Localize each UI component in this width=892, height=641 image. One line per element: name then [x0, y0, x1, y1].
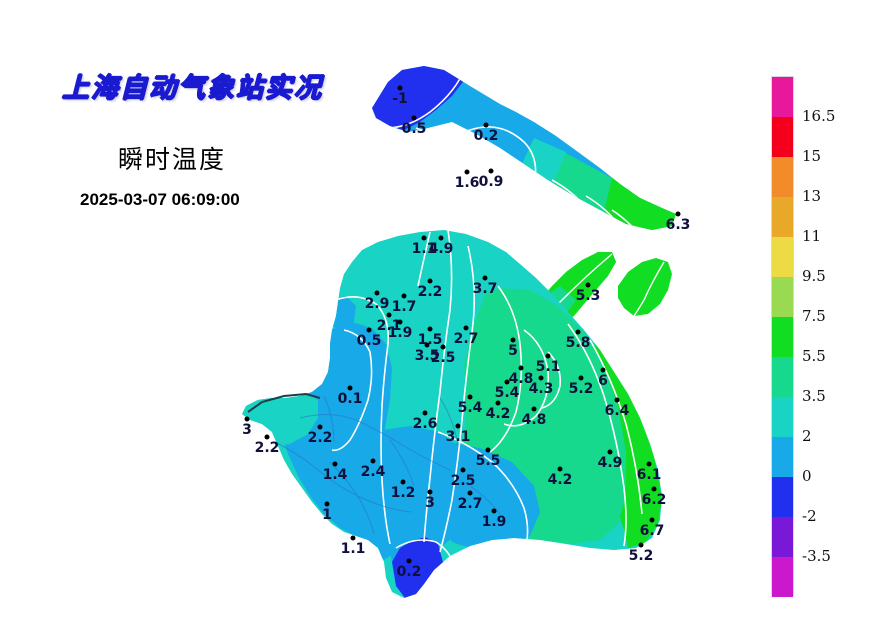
- hengsha-island-region: [612, 252, 682, 322]
- colorbar-tick-label: 9.5: [802, 267, 826, 285]
- station-value-label: 3.7: [473, 282, 498, 296]
- station-value-label: 4.8: [522, 413, 547, 427]
- station-dot-icon: [586, 283, 591, 288]
- station-dot-icon: [676, 212, 681, 217]
- station-value-label: 1: [322, 508, 332, 522]
- station-value-label: 6.2: [642, 493, 667, 507]
- station-value-label: 0.5: [357, 334, 382, 348]
- station-dot-icon: [496, 401, 501, 406]
- colorbar-band-7: [772, 357, 793, 397]
- station-value-label: 3: [425, 496, 435, 510]
- page-title: 上海自动气象站实况: [62, 66, 323, 105]
- station-dot-icon: [558, 467, 563, 472]
- station-dot-icon: [639, 543, 644, 548]
- station-dot-icon: [441, 345, 446, 350]
- station-dot-icon: [371, 459, 376, 464]
- colorbar-band-4: [772, 237, 793, 277]
- station-value-label: 2.6: [413, 417, 438, 431]
- station-value-label: 1.1: [341, 542, 366, 556]
- station-dot-icon: [439, 236, 444, 241]
- station-dot-icon: [468, 395, 473, 400]
- station-value-label: 0.1: [338, 392, 363, 406]
- station-dot-icon: [351, 536, 356, 541]
- station-value-label: 3: [242, 423, 252, 437]
- colorbar-band-6: [772, 317, 793, 357]
- timestamp-label: 2025-03-07 06:09:00: [80, 190, 240, 210]
- station-value-label: 1.7: [392, 300, 417, 314]
- colorbar-tick-label: 16.5: [802, 107, 835, 125]
- station-dot-icon: [483, 276, 488, 281]
- station-value-label: 1.5: [418, 333, 443, 347]
- station-dot-icon: [423, 411, 428, 416]
- colorbar-tick-label: 13: [802, 187, 821, 205]
- station-dot-icon: [608, 450, 613, 455]
- station-value-label: -1: [392, 92, 408, 106]
- station-dot-icon: [468, 491, 473, 496]
- station-dot-icon: [367, 328, 372, 333]
- chongming-island-region: [360, 60, 700, 250]
- station-dot-icon: [318, 425, 323, 430]
- station-value-label: 6.4: [605, 404, 630, 418]
- station-value-label: 0.9: [479, 175, 504, 189]
- colorbar-tick-label: 2: [802, 427, 812, 445]
- station-dot-icon: [412, 116, 417, 121]
- colorbar-band-0: [772, 77, 793, 117]
- station-dot-icon: [398, 86, 403, 91]
- station-dot-icon: [511, 338, 516, 343]
- station-value-label: 5.1: [536, 360, 561, 374]
- station-value-label: 5.3: [576, 289, 601, 303]
- station-dot-icon: [539, 376, 544, 381]
- station-dot-icon: [465, 170, 470, 175]
- station-dot-icon: [333, 462, 338, 467]
- station-dot-icon: [615, 398, 620, 403]
- station-dot-icon: [650, 518, 655, 523]
- station-dot-icon: [348, 386, 353, 391]
- station-dot-icon: [461, 468, 466, 473]
- station-value-label: 2.5: [451, 474, 476, 488]
- station-value-label: 2.2: [418, 285, 443, 299]
- station-dot-icon: [456, 424, 461, 429]
- station-value-label: 2.2: [308, 431, 333, 445]
- station-dot-icon: [464, 326, 469, 331]
- station-value-label: 6.7: [640, 524, 665, 538]
- station-value-label: 1.4: [323, 468, 348, 482]
- station-dot-icon: [652, 487, 657, 492]
- station-value-label: 1.2: [391, 486, 416, 500]
- station-dot-icon: [402, 294, 407, 299]
- colorbar-band-1: [772, 117, 793, 157]
- colorbar-band-10: [772, 477, 793, 517]
- station-dot-icon: [647, 462, 652, 467]
- station-value-label: 5.5: [476, 454, 501, 468]
- station-dot-icon: [492, 509, 497, 514]
- station-value-label: 4.3: [529, 382, 554, 396]
- station-dot-icon: [532, 407, 537, 412]
- station-value-label: 2.5: [431, 351, 456, 365]
- station-value-label: 2.9: [365, 297, 390, 311]
- station-dot-icon: [265, 435, 270, 440]
- station-value-label: 1.6: [455, 176, 480, 190]
- station-dot-icon: [489, 169, 494, 174]
- station-value-label: 2.7: [454, 332, 479, 346]
- station-dot-icon: [519, 366, 524, 371]
- station-dot-icon: [245, 417, 250, 422]
- station-dot-icon: [407, 559, 412, 564]
- station-dot-icon: [422, 236, 427, 241]
- colorbar-band-11: [772, 517, 793, 557]
- station-dot-icon: [325, 502, 330, 507]
- shanghai-mainland-region: [230, 225, 680, 615]
- station-value-label: 5.4: [495, 386, 520, 400]
- colorbar-band-3: [772, 197, 793, 237]
- station-dot-icon: [375, 291, 380, 296]
- colorbar-tick-label: 11: [802, 227, 821, 245]
- station-value-label: 6.1: [637, 468, 662, 482]
- station-value-label: 1.9: [388, 326, 413, 340]
- colorbar-tick-label: 5.5: [802, 347, 826, 365]
- colorbar-gradient: [771, 76, 794, 596]
- station-dot-icon: [576, 330, 581, 335]
- station-value-label: 4.2: [548, 473, 573, 487]
- station-dot-icon: [505, 380, 510, 385]
- station-dot-icon: [425, 343, 430, 348]
- subtitle-variable: 瞬时温度: [118, 140, 226, 176]
- colorbar-band-9: [772, 437, 793, 477]
- colorbar-band-5: [772, 277, 793, 317]
- colorbar-tick-label: 15: [802, 147, 821, 165]
- colorbar: 16.51513119.57.55.53.520-2-3.5: [771, 76, 891, 598]
- station-dot-icon: [398, 320, 403, 325]
- station-value-label: 4.2: [486, 407, 511, 421]
- station-value-label: 0.2: [397, 565, 422, 579]
- station-dot-icon: [428, 490, 433, 495]
- station-value-label: 6.3: [666, 218, 691, 232]
- station-value-label: 6: [598, 374, 608, 388]
- colorbar-tick-label: 7.5: [802, 307, 826, 325]
- station-value-label: 5.2: [629, 549, 654, 563]
- station-value-label: 5.8: [566, 336, 591, 350]
- station-value-label: 2.2: [255, 441, 280, 455]
- station-dot-icon: [401, 480, 406, 485]
- station-value-label: 1.9: [482, 515, 507, 529]
- colorbar-band-8: [772, 397, 793, 437]
- station-value-label: 4.9: [598, 456, 623, 470]
- station-value-label: 0.5: [402, 122, 427, 136]
- station-value-label: 4.9: [429, 242, 454, 256]
- colorbar-tick-label: 0: [802, 467, 812, 485]
- station-dot-icon: [486, 448, 491, 453]
- station-value-label: 5: [508, 344, 518, 358]
- station-dot-icon: [546, 354, 551, 359]
- station-dot-icon: [428, 279, 433, 284]
- station-value-label: 5.4: [458, 401, 483, 415]
- colorbar-tick-label: -3.5: [802, 547, 831, 565]
- colorbar-band-2: [772, 157, 793, 197]
- station-value-label: 0.2: [474, 129, 499, 143]
- station-dot-icon: [579, 376, 584, 381]
- station-dot-icon: [601, 368, 606, 373]
- station-dot-icon: [428, 327, 433, 332]
- station-dot-icon: [387, 313, 392, 318]
- colorbar-band-12: [772, 557, 793, 597]
- weather-map-page: -10.50.21.60.96.31.14.92.23.75.32.91.72.…: [0, 0, 892, 641]
- station-value-label: 3.1: [446, 430, 471, 444]
- colorbar-tick-label: -2: [802, 507, 817, 525]
- station-value-label: 2.7: [458, 497, 483, 511]
- station-value-label: 5.2: [569, 382, 594, 396]
- station-value-label: 2.4: [361, 465, 386, 479]
- station-dot-icon: [484, 123, 489, 128]
- colorbar-tick-label: 3.5: [802, 387, 826, 405]
